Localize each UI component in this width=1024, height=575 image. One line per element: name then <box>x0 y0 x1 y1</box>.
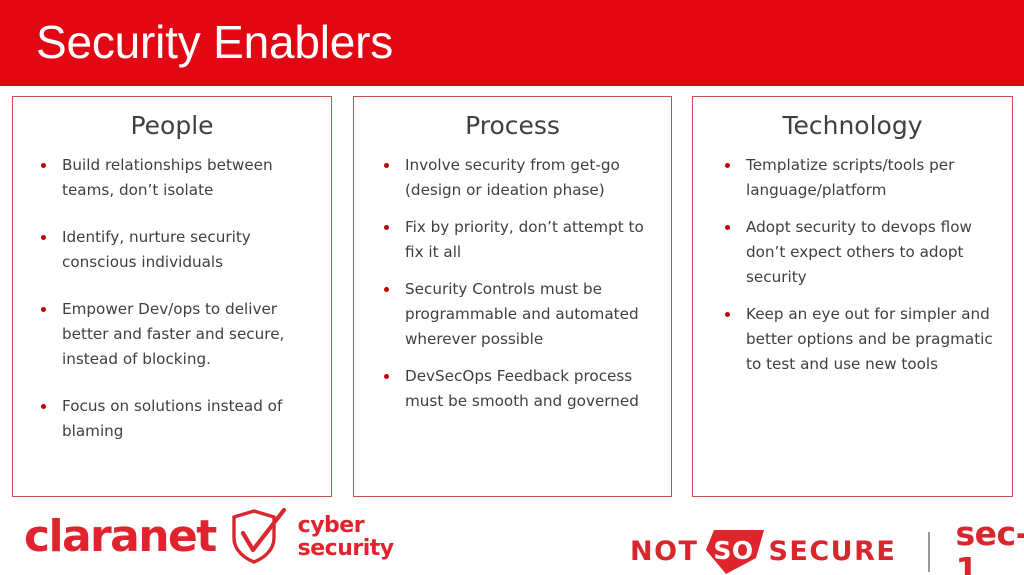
claranet-wordmark: claranet <box>24 513 216 561</box>
notsosecure-word-not: NOT <box>630 537 698 567</box>
bullet-list-people: Build relationships between teams, don’t… <box>13 153 331 444</box>
notsosecure-word-secure: SECURE <box>768 537 896 567</box>
list-item: Build relationships between teams, don’t… <box>29 153 325 203</box>
column-technology: Technology Templatize scripts/tools per … <box>692 96 1013 497</box>
list-item: Security Controls must be programmable a… <box>372 277 659 352</box>
column-people: People Build relationships between teams… <box>12 96 332 497</box>
slide-canvas: Security Enablers People Build relations… <box>0 0 1024 575</box>
bullet-list-process: Involve security from get-go (design or … <box>354 153 671 414</box>
list-item: Involve security from get-go (design or … <box>372 153 659 203</box>
logo-divider <box>928 532 929 572</box>
list-item: Fix by priority, don’t attempt to fix it… <box>372 215 659 265</box>
partner-logos: NOT SO SECURE sec-1 <box>630 516 1024 575</box>
claranet-tagline-line2: security <box>298 537 394 560</box>
column-heading-technology: Technology <box>693 111 1012 141</box>
bullet-list-technology: Templatize scripts/tools per language/pl… <box>693 153 1012 377</box>
list-item: DevSecOps Feedback process must be smoot… <box>372 364 659 414</box>
list-item: Empower Dev/ops to deliver better and fa… <box>29 297 325 372</box>
claranet-tagline-line1: cyber <box>298 514 394 537</box>
list-item: Identify, nurture security conscious ind… <box>29 225 325 275</box>
notsosecure-so-badge: SO <box>702 528 764 575</box>
column-heading-process: Process <box>354 111 671 141</box>
claranet-tagline: cyber security <box>298 514 394 560</box>
notsosecure-logo: NOT SO SECURE <box>630 528 896 575</box>
claranet-cyber-security-logo: claranet cyber security <box>24 508 394 566</box>
list-item: Templatize scripts/tools per language/pl… <box>713 153 1002 203</box>
shield-check-icon <box>226 508 288 566</box>
list-item: Focus on solutions instead of blaming <box>29 394 325 444</box>
list-item: Keep an eye out for simpler and better o… <box>713 302 1002 377</box>
notsosecure-so-text: SO <box>702 537 764 564</box>
page-title: Security Enablers <box>36 12 393 72</box>
slide-footer: claranet cyber security NOT <box>0 500 1024 575</box>
sec1-wordmark: sec-1 <box>956 516 1024 575</box>
column-heading-people: People <box>13 111 331 141</box>
list-item: Adopt security to devops flow don’t expe… <box>713 215 1002 290</box>
slide-header-band: Security Enablers <box>0 0 1024 86</box>
column-process: Process Involve security from get-go (de… <box>353 96 672 497</box>
